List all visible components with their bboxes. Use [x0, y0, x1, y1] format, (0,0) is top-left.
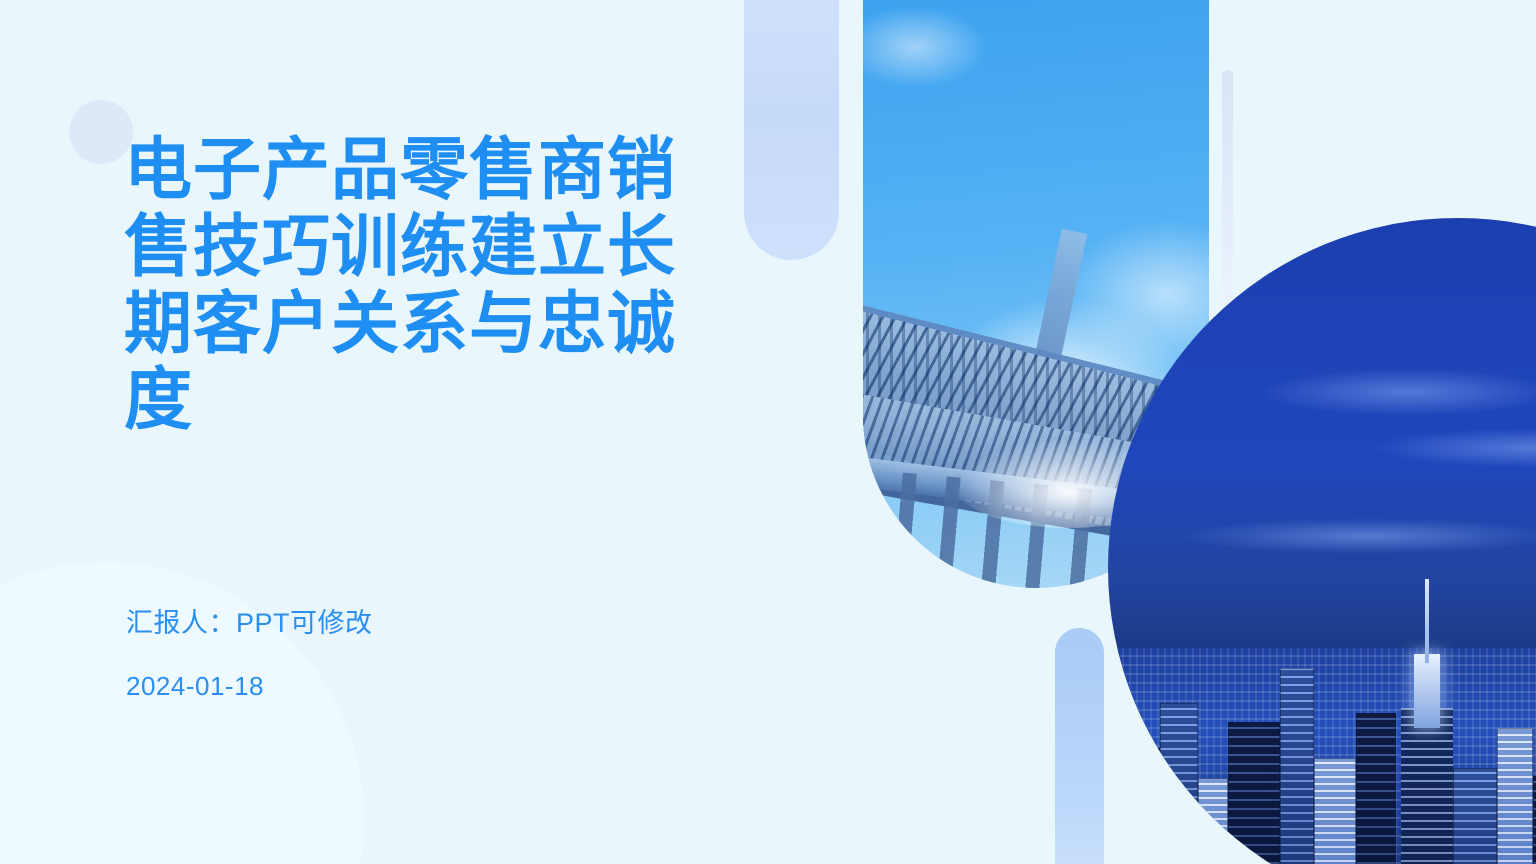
spire-building — [1401, 708, 1453, 864]
spire-crown — [1414, 654, 1440, 728]
slide-title: 电子产品零售商销售技巧训练建立长期客户关系与忠诚度 — [124, 132, 724, 439]
presentation-slide: 电子产品零售商销售技巧训练建立长期客户关系与忠诚度 汇报人：PPT可修改 202… — [0, 0, 1536, 864]
slide-date: 2024-01-18 — [126, 673, 373, 699]
slide-text-block: 电子产品零售商销售技巧训练建立长期客户关系与忠诚度 汇报人：PPT可修改 202… — [124, 0, 744, 864]
rounded-pill-top — [744, 0, 839, 260]
city-cloud-wisp — [1178, 518, 1536, 554]
presenter-label: 汇报人：PPT可修改 — [126, 610, 373, 637]
rounded-pill-bottom — [1055, 628, 1104, 864]
slide-meta: 汇报人：PPT可修改 2024-01-18 — [126, 610, 373, 699]
spire-needle — [1425, 579, 1429, 663]
city-photo — [1108, 218, 1536, 864]
city-skyline — [1108, 648, 1536, 864]
